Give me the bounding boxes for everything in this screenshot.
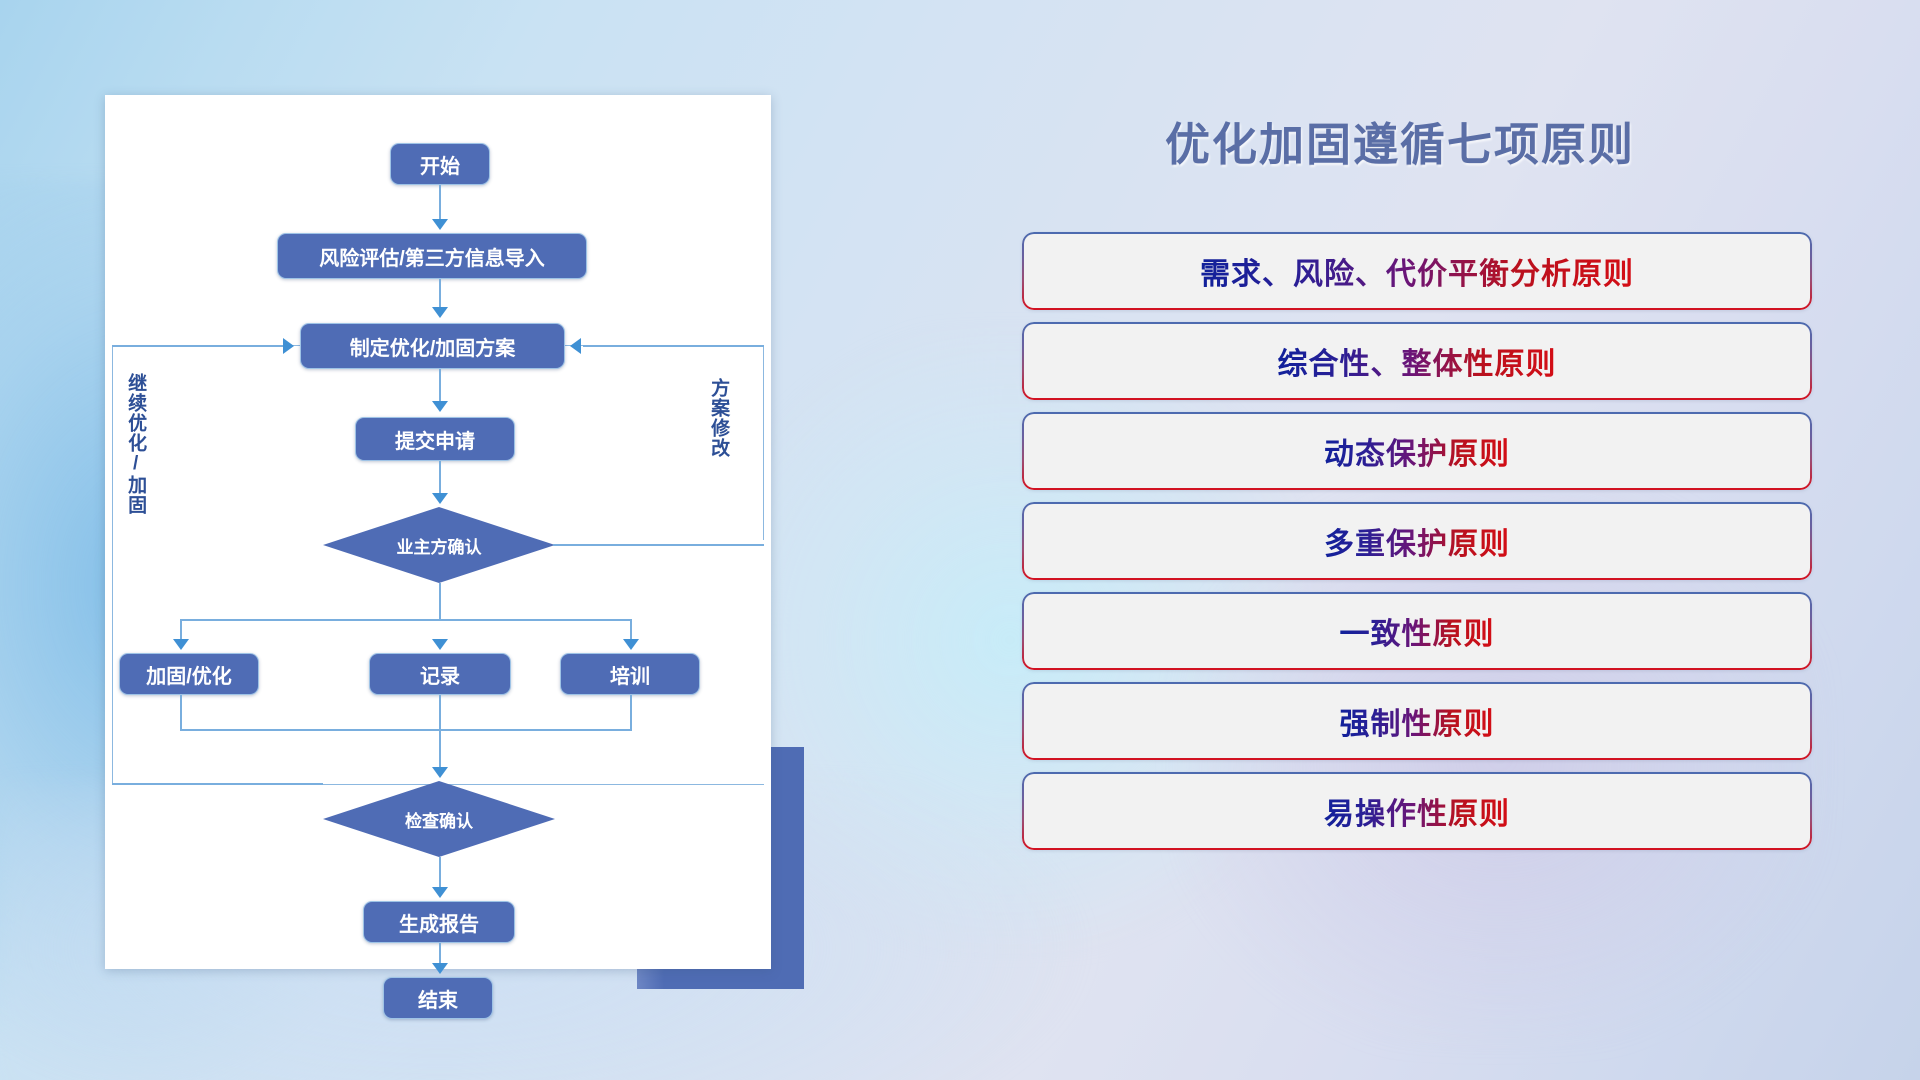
arrow-down-icon bbox=[432, 639, 448, 650]
flow-node-start[interactable]: 开始 bbox=[390, 143, 490, 185]
edge-label-plan-revision: 方案修改 bbox=[708, 378, 728, 458]
connector-merge-right bbox=[630, 695, 632, 731]
arrow-down-icon bbox=[432, 401, 448, 412]
principle-item-1[interactable]: 需求、风险、代价平衡分析原则 bbox=[1022, 232, 1812, 310]
connector-confirm-to-revision bbox=[553, 544, 764, 546]
connector-merge-left bbox=[180, 695, 182, 731]
connector-loop-to-plan bbox=[112, 345, 284, 347]
principle-label: 一致性原则 bbox=[1340, 609, 1495, 653]
principle-item-7[interactable]: 易操作性原则 bbox=[1022, 772, 1812, 850]
page-title: 优化加固遵循七项原则 bbox=[880, 108, 1920, 173]
principle-label: 易操作性原则 bbox=[1324, 789, 1510, 833]
flowchart-card: 继续优化/加固 方案修改 开始 风险评估/第三方信息导入 制定优化/加固方案 提… bbox=[105, 95, 771, 969]
connector-start-to-risk bbox=[439, 185, 441, 223]
arrow-down-icon bbox=[432, 219, 448, 230]
connector-revision-to-plan bbox=[583, 345, 764, 347]
arrow-down-icon bbox=[432, 307, 448, 318]
flow-node-reinforce-optimize[interactable]: 加固/优化 bbox=[119, 653, 259, 695]
arrow-down-icon bbox=[432, 887, 448, 898]
principle-label: 需求、风险、代价平衡分析原则 bbox=[1200, 249, 1634, 293]
plan-revision-path bbox=[750, 345, 764, 540]
principle-label: 强制性原则 bbox=[1340, 699, 1495, 743]
edge-label-continue-loop: 继续优化/加固 bbox=[125, 373, 145, 515]
connector-check-to-loop bbox=[112, 783, 323, 785]
arrow-down-icon bbox=[432, 493, 448, 504]
arrow-right-icon bbox=[283, 338, 294, 354]
principles-list: 需求、风险、代价平衡分析原则 综合性、整体性原则 动态保护原则 多重保护原则 一… bbox=[1022, 232, 1812, 862]
flow-node-make-plan[interactable]: 制定优化/加固方案 bbox=[300, 323, 565, 369]
flow-node-generate-report[interactable]: 生成报告 bbox=[363, 901, 515, 943]
principle-item-4[interactable]: 多重保护原则 bbox=[1022, 502, 1812, 580]
principle-label: 多重保护原则 bbox=[1324, 519, 1510, 563]
flow-node-record[interactable]: 记录 bbox=[369, 653, 511, 695]
arrow-down-icon bbox=[173, 639, 189, 650]
flow-node-training[interactable]: 培训 bbox=[560, 653, 700, 695]
arrow-down-icon bbox=[623, 639, 639, 650]
principle-item-6[interactable]: 强制性原则 bbox=[1022, 682, 1812, 760]
principle-item-5[interactable]: 一致性原则 bbox=[1022, 592, 1812, 670]
connector-split-bus bbox=[180, 619, 632, 621]
flowchart-panel: 继续优化/加固 方案修改 开始 风险评估/第三方信息导入 制定优化/加固方案 提… bbox=[0, 0, 880, 1080]
flow-node-submit-application[interactable]: 提交申请 bbox=[355, 417, 515, 461]
connector-confirm-down bbox=[439, 583, 441, 621]
principle-label: 动态保护原则 bbox=[1324, 429, 1510, 473]
arrow-down-icon bbox=[432, 767, 448, 778]
flow-decision-check-confirm[interactable]: 检查确认 bbox=[323, 781, 555, 857]
arrow-left-icon bbox=[570, 338, 581, 354]
principle-item-2[interactable]: 综合性、整体性原则 bbox=[1022, 322, 1812, 400]
flow-node-end[interactable]: 结束 bbox=[383, 977, 493, 1019]
principle-label: 综合性、整体性原则 bbox=[1278, 339, 1557, 383]
connector-merge-bus bbox=[180, 729, 632, 731]
flow-node-risk-assessment[interactable]: 风险评估/第三方信息导入 bbox=[277, 233, 587, 279]
arrow-down-icon bbox=[432, 963, 448, 974]
connector-merge-center bbox=[439, 695, 441, 773]
principles-panel: 优化加固遵循七项原则 需求、风险、代价平衡分析原则 综合性、整体性原则 动态保护… bbox=[880, 0, 1920, 1080]
principle-item-3[interactable]: 动态保护原则 bbox=[1022, 412, 1812, 490]
